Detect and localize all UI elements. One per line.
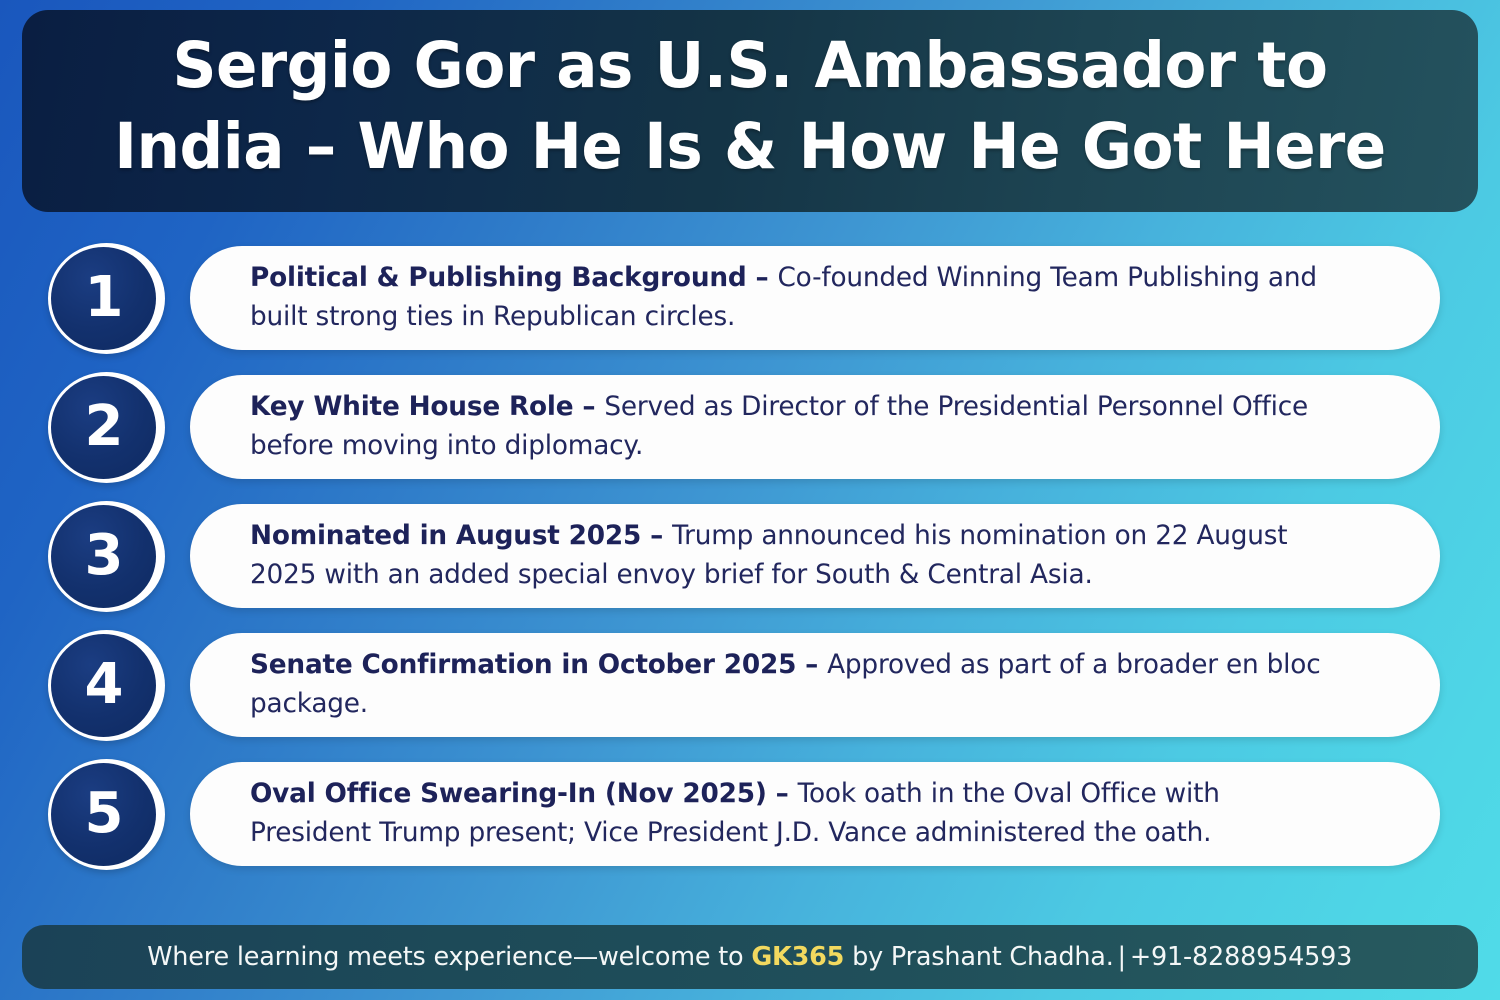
badge-circle: 5 xyxy=(51,763,156,866)
footer-text: Where learning meets experience—welcome … xyxy=(148,942,1353,972)
item-lead: Senate Confirmation in October 2025 – xyxy=(250,649,827,680)
list-item: 4 Senate Confirmation in October 2025 – … xyxy=(0,630,1500,741)
item-lead: Political & Publishing Background – xyxy=(250,262,777,293)
item-text: Key White House Role – Served as Directo… xyxy=(250,388,1342,466)
list-item: 3 Nominated in August 2025 – Trump annou… xyxy=(0,501,1500,612)
list-item: 2 Key White House Role – Served as Direc… xyxy=(0,372,1500,483)
item-card-3: Nominated in August 2025 – Trump announc… xyxy=(190,504,1440,608)
item-card-5: Oval Office Swearing-In (Nov 2025) – Too… xyxy=(190,762,1440,866)
badge-number: 3 xyxy=(85,528,123,584)
item-text: Political & Publishing Background – Co-f… xyxy=(250,259,1342,337)
item-lead: Oval Office Swearing-In (Nov 2025) – xyxy=(250,778,798,809)
badge-circle: 1 xyxy=(51,247,156,350)
badge-number: 1 xyxy=(85,270,123,326)
list-item: 1 Political & Publishing Background – Co… xyxy=(0,243,1500,354)
item-card-1: Political & Publishing Background – Co-f… xyxy=(190,246,1440,350)
header-banner: Sergio Gor as U.S. Ambassador to India –… xyxy=(22,10,1478,212)
badge-circle: 4 xyxy=(51,634,156,737)
badge-circle: 3 xyxy=(51,505,156,608)
numbered-list: 1 Political & Publishing Background – Co… xyxy=(0,243,1500,888)
footer-separator: | xyxy=(1114,942,1130,972)
item-lead: Key White House Role – xyxy=(250,391,604,422)
step-badge-4: 4 xyxy=(48,630,165,741)
item-card-4: Senate Confirmation in October 2025 – Ap… xyxy=(190,633,1440,737)
footer-banner: Where learning meets experience—welcome … xyxy=(22,925,1478,989)
footer-tagline: Where learning meets experience—welcome … xyxy=(148,942,752,972)
brand-name: GK365 xyxy=(752,942,845,972)
list-item: 5 Oval Office Swearing-In (Nov 2025) – T… xyxy=(0,759,1500,870)
step-badge-1: 1 xyxy=(48,243,165,354)
footer-phone: +91-8288954593 xyxy=(1130,942,1352,972)
step-badge-3: 3 xyxy=(48,501,165,612)
item-card-2: Key White House Role – Served as Directo… xyxy=(190,375,1440,479)
badge-number: 2 xyxy=(85,399,123,455)
footer-author: by Prashant Chadha. xyxy=(844,942,1113,972)
item-text: Senate Confirmation in October 2025 – Ap… xyxy=(250,646,1342,724)
page-title: Sergio Gor as U.S. Ambassador to India –… xyxy=(77,26,1423,187)
item-text: Oval Office Swearing-In (Nov 2025) – Too… xyxy=(250,775,1342,853)
badge-number: 4 xyxy=(85,657,123,713)
step-badge-2: 2 xyxy=(48,372,165,483)
badge-number: 5 xyxy=(85,786,123,842)
item-lead: Nominated in August 2025 – xyxy=(250,520,672,551)
badge-circle: 2 xyxy=(51,376,156,479)
item-text: Nominated in August 2025 – Trump announc… xyxy=(250,517,1342,595)
infographic-poster: Sergio Gor as U.S. Ambassador to India –… xyxy=(0,0,1500,1000)
step-badge-5: 5 xyxy=(48,759,165,870)
